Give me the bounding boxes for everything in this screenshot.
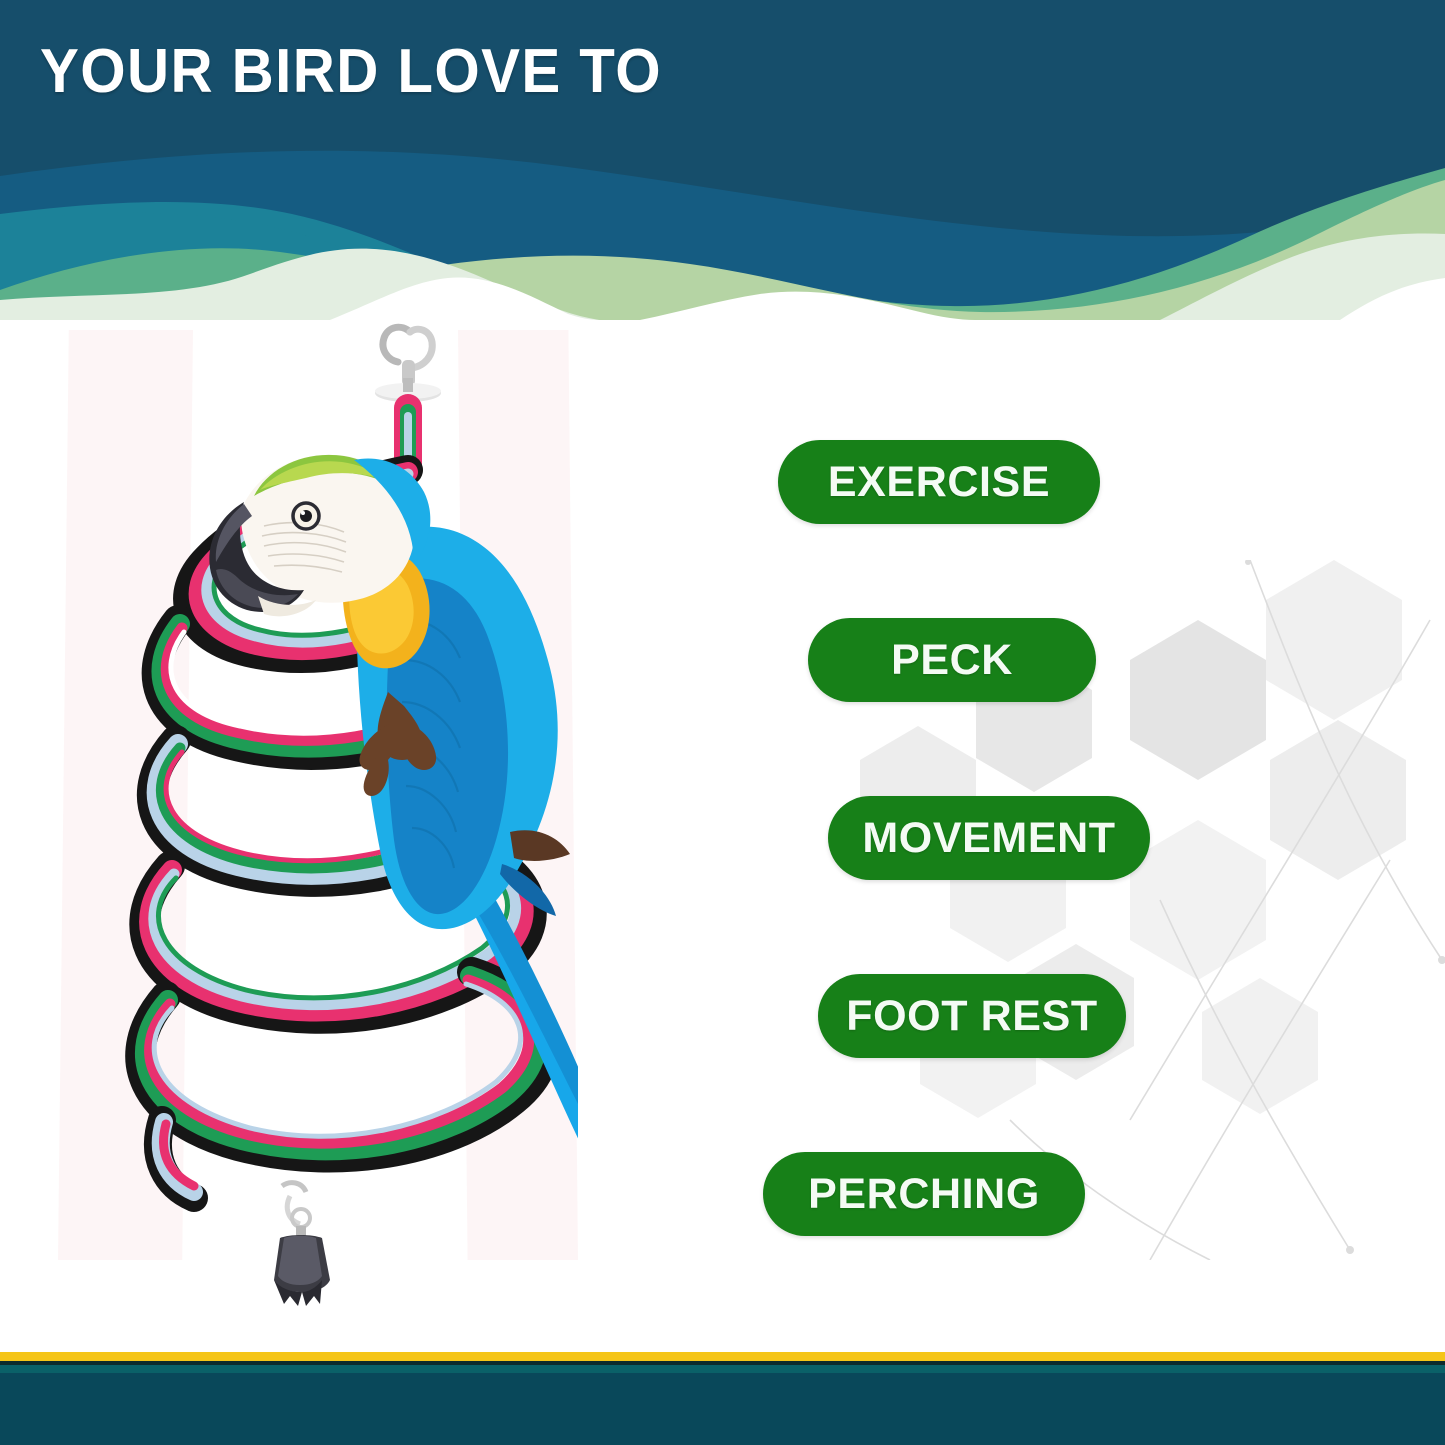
metal-bell <box>274 1183 330 1306</box>
footer-bar <box>0 1365 1445 1445</box>
badge-perching[interactable]: PERCHING <box>763 1152 1085 1236</box>
metal-swivel-hook <box>375 327 441 402</box>
badge-label: PERCHING <box>808 1170 1040 1219</box>
badge-label: PECK <box>891 636 1013 685</box>
badge-foot-rest[interactable]: FOOT REST <box>818 974 1126 1058</box>
benefit-badge-list: EXERCISE PECK MOVEMENT FOOT REST PERCHIN… <box>700 440 1420 1270</box>
badge-label: MOVEMENT <box>862 814 1115 863</box>
badge-exercise[interactable]: EXERCISE <box>778 440 1100 524</box>
footer-bar-highlight <box>0 1365 1445 1373</box>
badge-label: EXERCISE <box>828 458 1050 507</box>
badge-label: FOOT REST <box>846 992 1097 1041</box>
badge-movement[interactable]: MOVEMENT <box>828 796 1150 880</box>
header-banner: YOUR BIRD LOVE TO <box>0 0 1445 320</box>
page-title: YOUR BIRD LOVE TO <box>40 36 662 107</box>
footer-accent-stripe <box>0 1352 1445 1361</box>
badge-peck[interactable]: PECK <box>808 618 1096 702</box>
product-image <box>58 320 578 1320</box>
infographic-page: YOUR BIRD LOVE TO <box>0 0 1445 1445</box>
macaw-rope-perch-illustration <box>58 320 578 1320</box>
